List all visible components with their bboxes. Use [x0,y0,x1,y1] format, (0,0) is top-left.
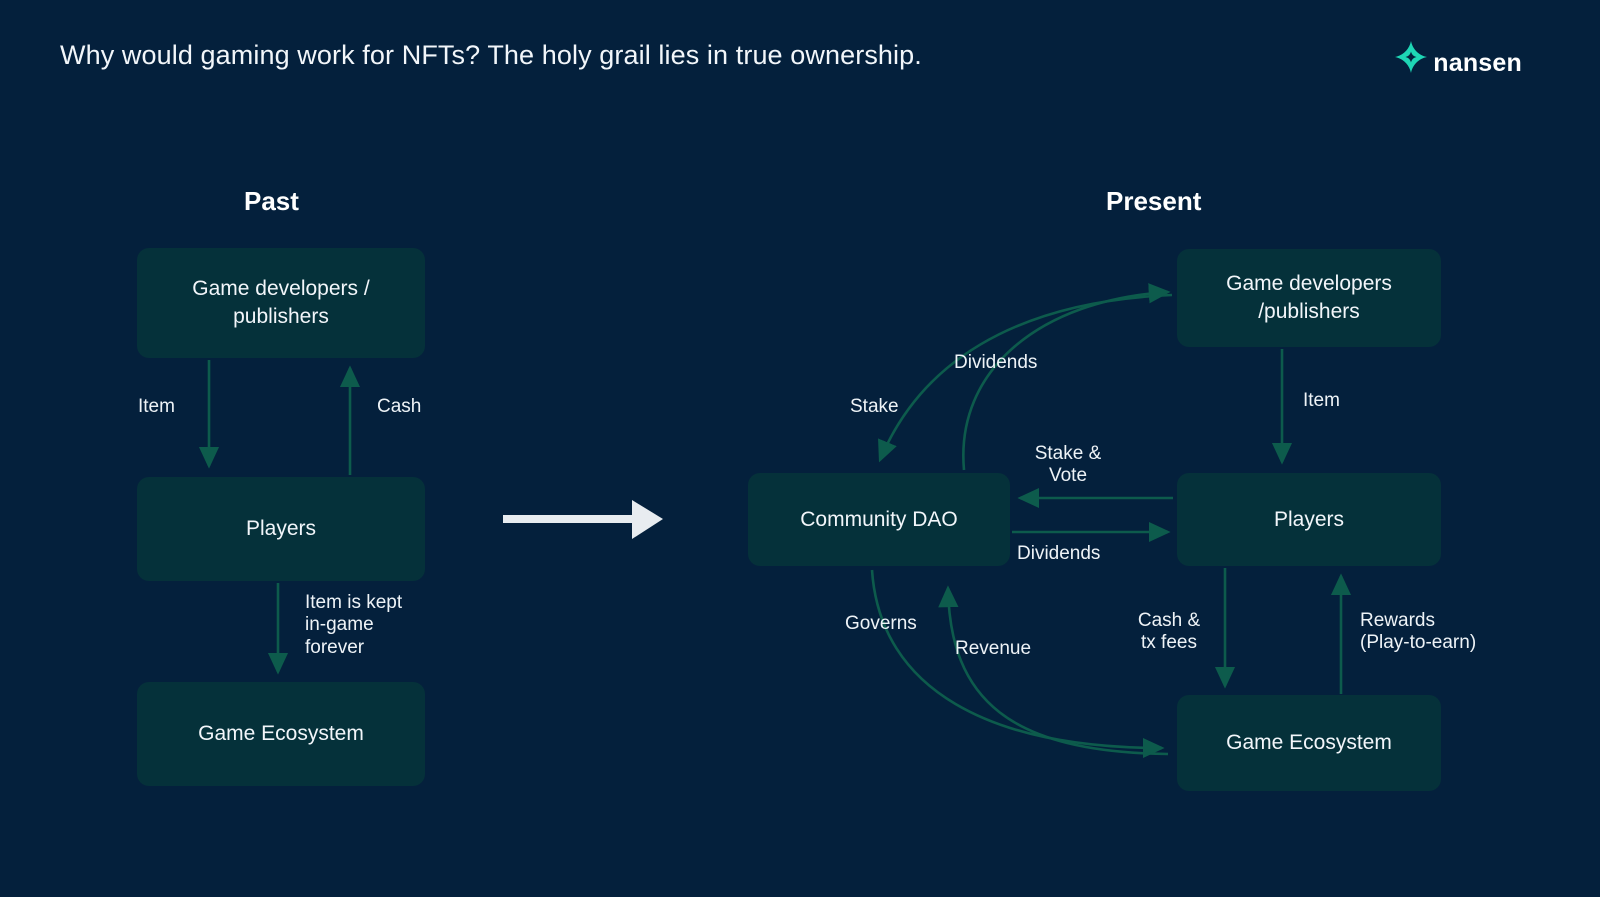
edge-label-present-revenue: Revenue [955,638,1031,660]
edge-label-present-item: Item [1303,390,1340,412]
node-present-players[interactable]: Players [1177,473,1441,566]
node-past-game-ecosystem[interactable]: Game Ecosystem [137,682,425,786]
edge-label-past-item-kept: Item is kept in-game forever [305,592,402,659]
node-past-players[interactable]: Players [137,477,425,581]
node-present-game-developers[interactable]: Game developers /publishers [1177,249,1441,347]
edge-label-present-dividends-curve: Dividends [954,352,1037,374]
edge-label-present-stake: Stake [850,396,899,418]
edge-label-past-cash: Cash [377,396,421,418]
edge-present-stake [880,295,1172,460]
diagram-canvas: Why would gaming work for NFTs? The holy… [0,0,1600,897]
edge-label-present-rewards: Rewards (Play-to-earn) [1360,610,1476,655]
node-present-game-ecosystem[interactable]: Game Ecosystem [1177,695,1441,791]
node-past-game-developers[interactable]: Game developers / publishers [137,248,425,358]
edge-label-present-governs: Governs [845,613,917,635]
transition-arrow-icon [503,500,663,539]
edge-label-present-cash-tx-fees: Cash & tx fees [1130,610,1208,655]
edge-label-past-item: Item [138,396,175,418]
edge-label-present-stake-vote: Stake & Vote [1022,443,1114,488]
edge-label-present-dividends-flat: Dividends [1017,543,1100,565]
node-present-community-dao[interactable]: Community DAO [748,473,1010,566]
